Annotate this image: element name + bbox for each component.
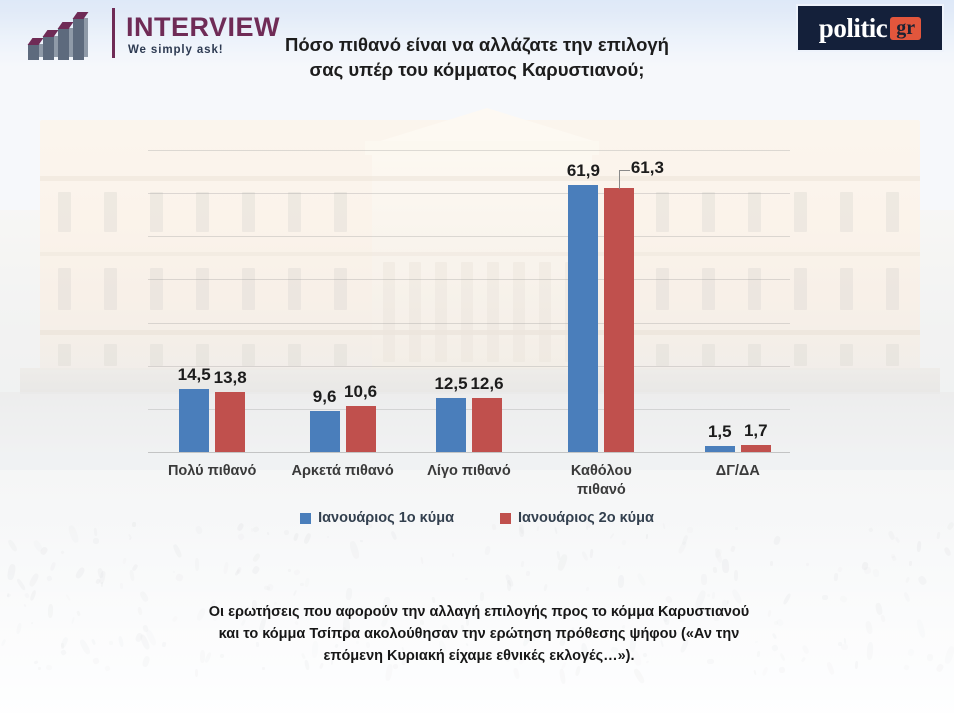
bar-1-series-2[interactable] xyxy=(215,392,245,452)
logo-bar-3 xyxy=(58,28,69,60)
category-label-line: ΔΓ/ΔΑ xyxy=(663,462,813,481)
logo-bar-1 xyxy=(28,44,39,60)
legend-item-1[interactable]: Ιανουάριος 1ο κύμα xyxy=(300,510,454,526)
interview-logo: INTERVIEW We simply ask! xyxy=(28,6,288,62)
legend-swatch-icon-1 xyxy=(300,513,311,524)
bar-3-series-2[interactable] xyxy=(472,398,502,452)
bar-5-series-1[interactable] xyxy=(705,446,735,452)
background-wash-bottom xyxy=(0,470,954,713)
bar-2-series-1[interactable] xyxy=(310,411,340,452)
value-label-2-series-2: 10,6 xyxy=(338,382,384,402)
bar-5-series-2[interactable] xyxy=(741,445,771,452)
category-label-5: ΔΓ/ΔΑ xyxy=(663,462,813,481)
chart-axis-line xyxy=(148,452,790,453)
gridline xyxy=(148,366,790,367)
logo-bar-side-4 xyxy=(84,18,88,57)
chart-title: Πόσο πιθανό είναι να αλλάζατε την επιλογ… xyxy=(277,32,677,82)
chart-plot-area: 14,513,89,610,612,512,661,961,31,51,7 xyxy=(148,150,790,452)
chart-footnote: Οι ερωτήσεις που αφορούν την αλλαγή επιλ… xyxy=(147,602,811,667)
footnote-line-2: και το κόμμα Τσίπρα ακολούθησαν την ερώτ… xyxy=(147,624,811,646)
footnote-line-1: Οι ερωτήσεις που αφορούν την αλλαγή επιλ… xyxy=(147,602,811,624)
bar-4-series-1[interactable] xyxy=(568,185,598,452)
category-label-line: Λίγο πιθανό xyxy=(394,462,544,481)
legend-label-1: Ιανουάριος 1ο κύμα xyxy=(318,510,454,526)
category-label-line: Πολύ πιθανό xyxy=(137,462,287,481)
value-label-4-series-1: 61,9 xyxy=(560,161,606,181)
interview-logo-tagline: We simply ask! xyxy=(128,44,223,56)
chart-legend: Ιανουάριος 1ο κύμαΙανουάριος 2ο κύμα xyxy=(0,510,954,526)
value-label-leader-line xyxy=(619,170,630,189)
footnote-line-3: επόμενη Κυριακή είχαμε εθνικές εκλογές…»… xyxy=(147,646,811,668)
legend-swatch-icon-2 xyxy=(500,513,511,524)
politic-gr-logo: politicgr xyxy=(796,4,944,52)
logo-bar-4 xyxy=(73,18,84,60)
value-label-1-series-2: 13,8 xyxy=(207,368,253,388)
logo-divider xyxy=(112,8,115,58)
gridline xyxy=(148,323,790,324)
gridline xyxy=(148,236,790,237)
category-label-4: Καθόλουπιθανό xyxy=(526,462,676,499)
bar-3-series-1[interactable] xyxy=(436,398,466,452)
bar-2-series-2[interactable] xyxy=(346,406,376,452)
gridline xyxy=(148,279,790,280)
value-label-4-series-2: 61,3 xyxy=(624,158,670,178)
logo-bar-2 xyxy=(43,36,54,60)
category-label-1: Πολύ πιθανό xyxy=(137,462,287,481)
interview-bars-icon xyxy=(28,12,108,60)
category-label-3: Λίγο πιθανό xyxy=(394,462,544,481)
value-label-5-series-2: 1,7 xyxy=(733,421,779,441)
category-label-line: Καθόλου xyxy=(526,462,676,481)
legend-item-2[interactable]: Ιανουάριος 2ο κύμα xyxy=(500,510,654,526)
poll-infographic: INTERVIEW We simply ask! politicgr Πόσο … xyxy=(0,0,954,713)
gridline xyxy=(148,193,790,194)
category-label-line: πιθανό xyxy=(526,481,676,500)
legend-label-2: Ιανουάριος 2ο κύμα xyxy=(518,510,654,526)
politic-logo-tld: gr xyxy=(890,17,921,40)
bar-1-series-1[interactable] xyxy=(179,389,209,452)
gridline xyxy=(148,150,790,151)
interview-logo-text: INTERVIEW xyxy=(126,12,280,43)
politic-logo-text: politic xyxy=(819,13,888,44)
bar-4-series-2[interactable] xyxy=(604,188,634,452)
value-label-3-series-2: 12,6 xyxy=(464,374,510,394)
